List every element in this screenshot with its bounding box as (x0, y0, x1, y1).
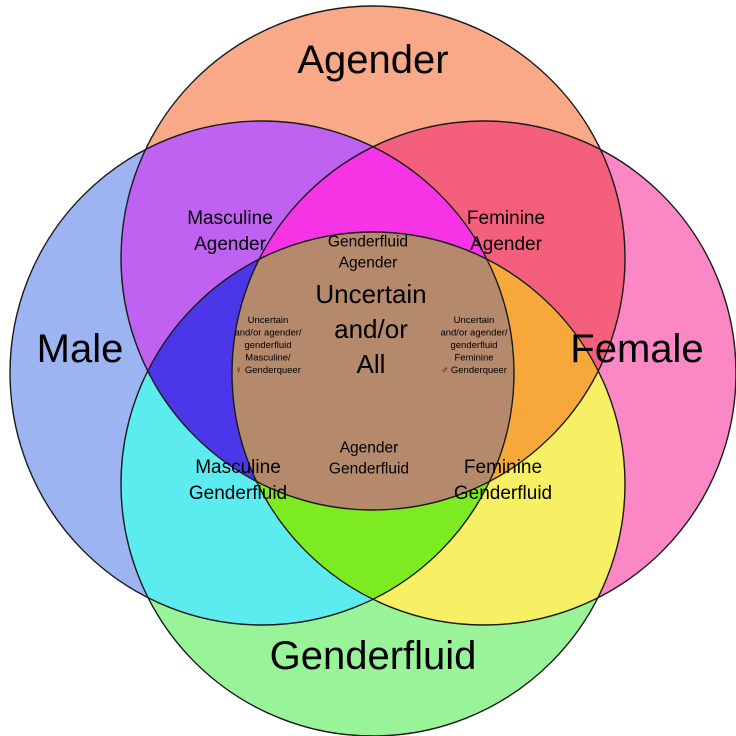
label-agender-genderfluid-line-0: Agender (340, 440, 399, 457)
label-uncertain-feminine-line-1: and/or agender/ (440, 327, 507, 338)
label-masculine-genderfluid-line-0: Masculine (195, 457, 281, 478)
label-masculine-agender-line-0: Masculine (187, 208, 273, 229)
label-genderfluid-line-0: Genderfluid (270, 634, 477, 678)
gender-venn-diagram: AgenderMaleFemaleGenderfluidMasculineAge… (0, 0, 736, 736)
label-female-line-0: Female (570, 327, 703, 371)
label-uncertain-masculine-line-4: ♀ Genderqueer (235, 365, 301, 376)
label-uncertain-all-line-2: All (357, 349, 386, 379)
label-uncertain-feminine-line-0: Uncertain (454, 315, 495, 326)
label-agender-genderfluid-line-1: Genderfluid (329, 461, 409, 478)
label-uncertain-all-line-0: Uncertain (315, 279, 426, 309)
label-uncertain-masculine-line-1: and/or agender/ (234, 327, 301, 338)
label-agender-line-0: Agender (297, 38, 448, 82)
label-uncertain-all-line-1: and/or (334, 314, 408, 344)
label-genderfluid: Genderfluid (270, 634, 477, 678)
label-feminine-genderfluid-line-1: Genderfluid (454, 483, 552, 504)
label-uncertain-feminine-line-3: Feminine (454, 352, 493, 363)
label-feminine-agender-line-0: Feminine (467, 208, 545, 229)
label-male-line-0: Male (37, 327, 124, 371)
label-genderfluid-agender-line-0: Genderfluid (328, 234, 408, 251)
label-masculine-agender-line-1: Agender (194, 234, 267, 255)
label-uncertain-masculine-line-3: Masculine/ (245, 352, 291, 363)
label-feminine-genderfluid-line-0: Feminine (464, 457, 542, 478)
label-female: Female (570, 327, 703, 371)
label-uncertain-feminine-line-2: genderfluid (450, 340, 497, 351)
label-uncertain-masculine-line-0: Uncertain (248, 315, 289, 326)
label-feminine-agender-line-1: Agender (470, 234, 543, 255)
label-male: Male (37, 327, 124, 371)
venn-diagram-canvas: AgenderMaleFemaleGenderfluidMasculineAge… (0, 0, 736, 736)
label-genderfluid-agender-line-1: Agender (339, 255, 398, 272)
label-masculine-genderfluid-line-1: Genderfluid (189, 483, 287, 504)
label-uncertain-masculine-line-2: genderfluid (244, 340, 291, 351)
label-uncertain-feminine-line-4: ♂ Genderqueer (441, 365, 507, 376)
label-agender: Agender (297, 38, 448, 82)
